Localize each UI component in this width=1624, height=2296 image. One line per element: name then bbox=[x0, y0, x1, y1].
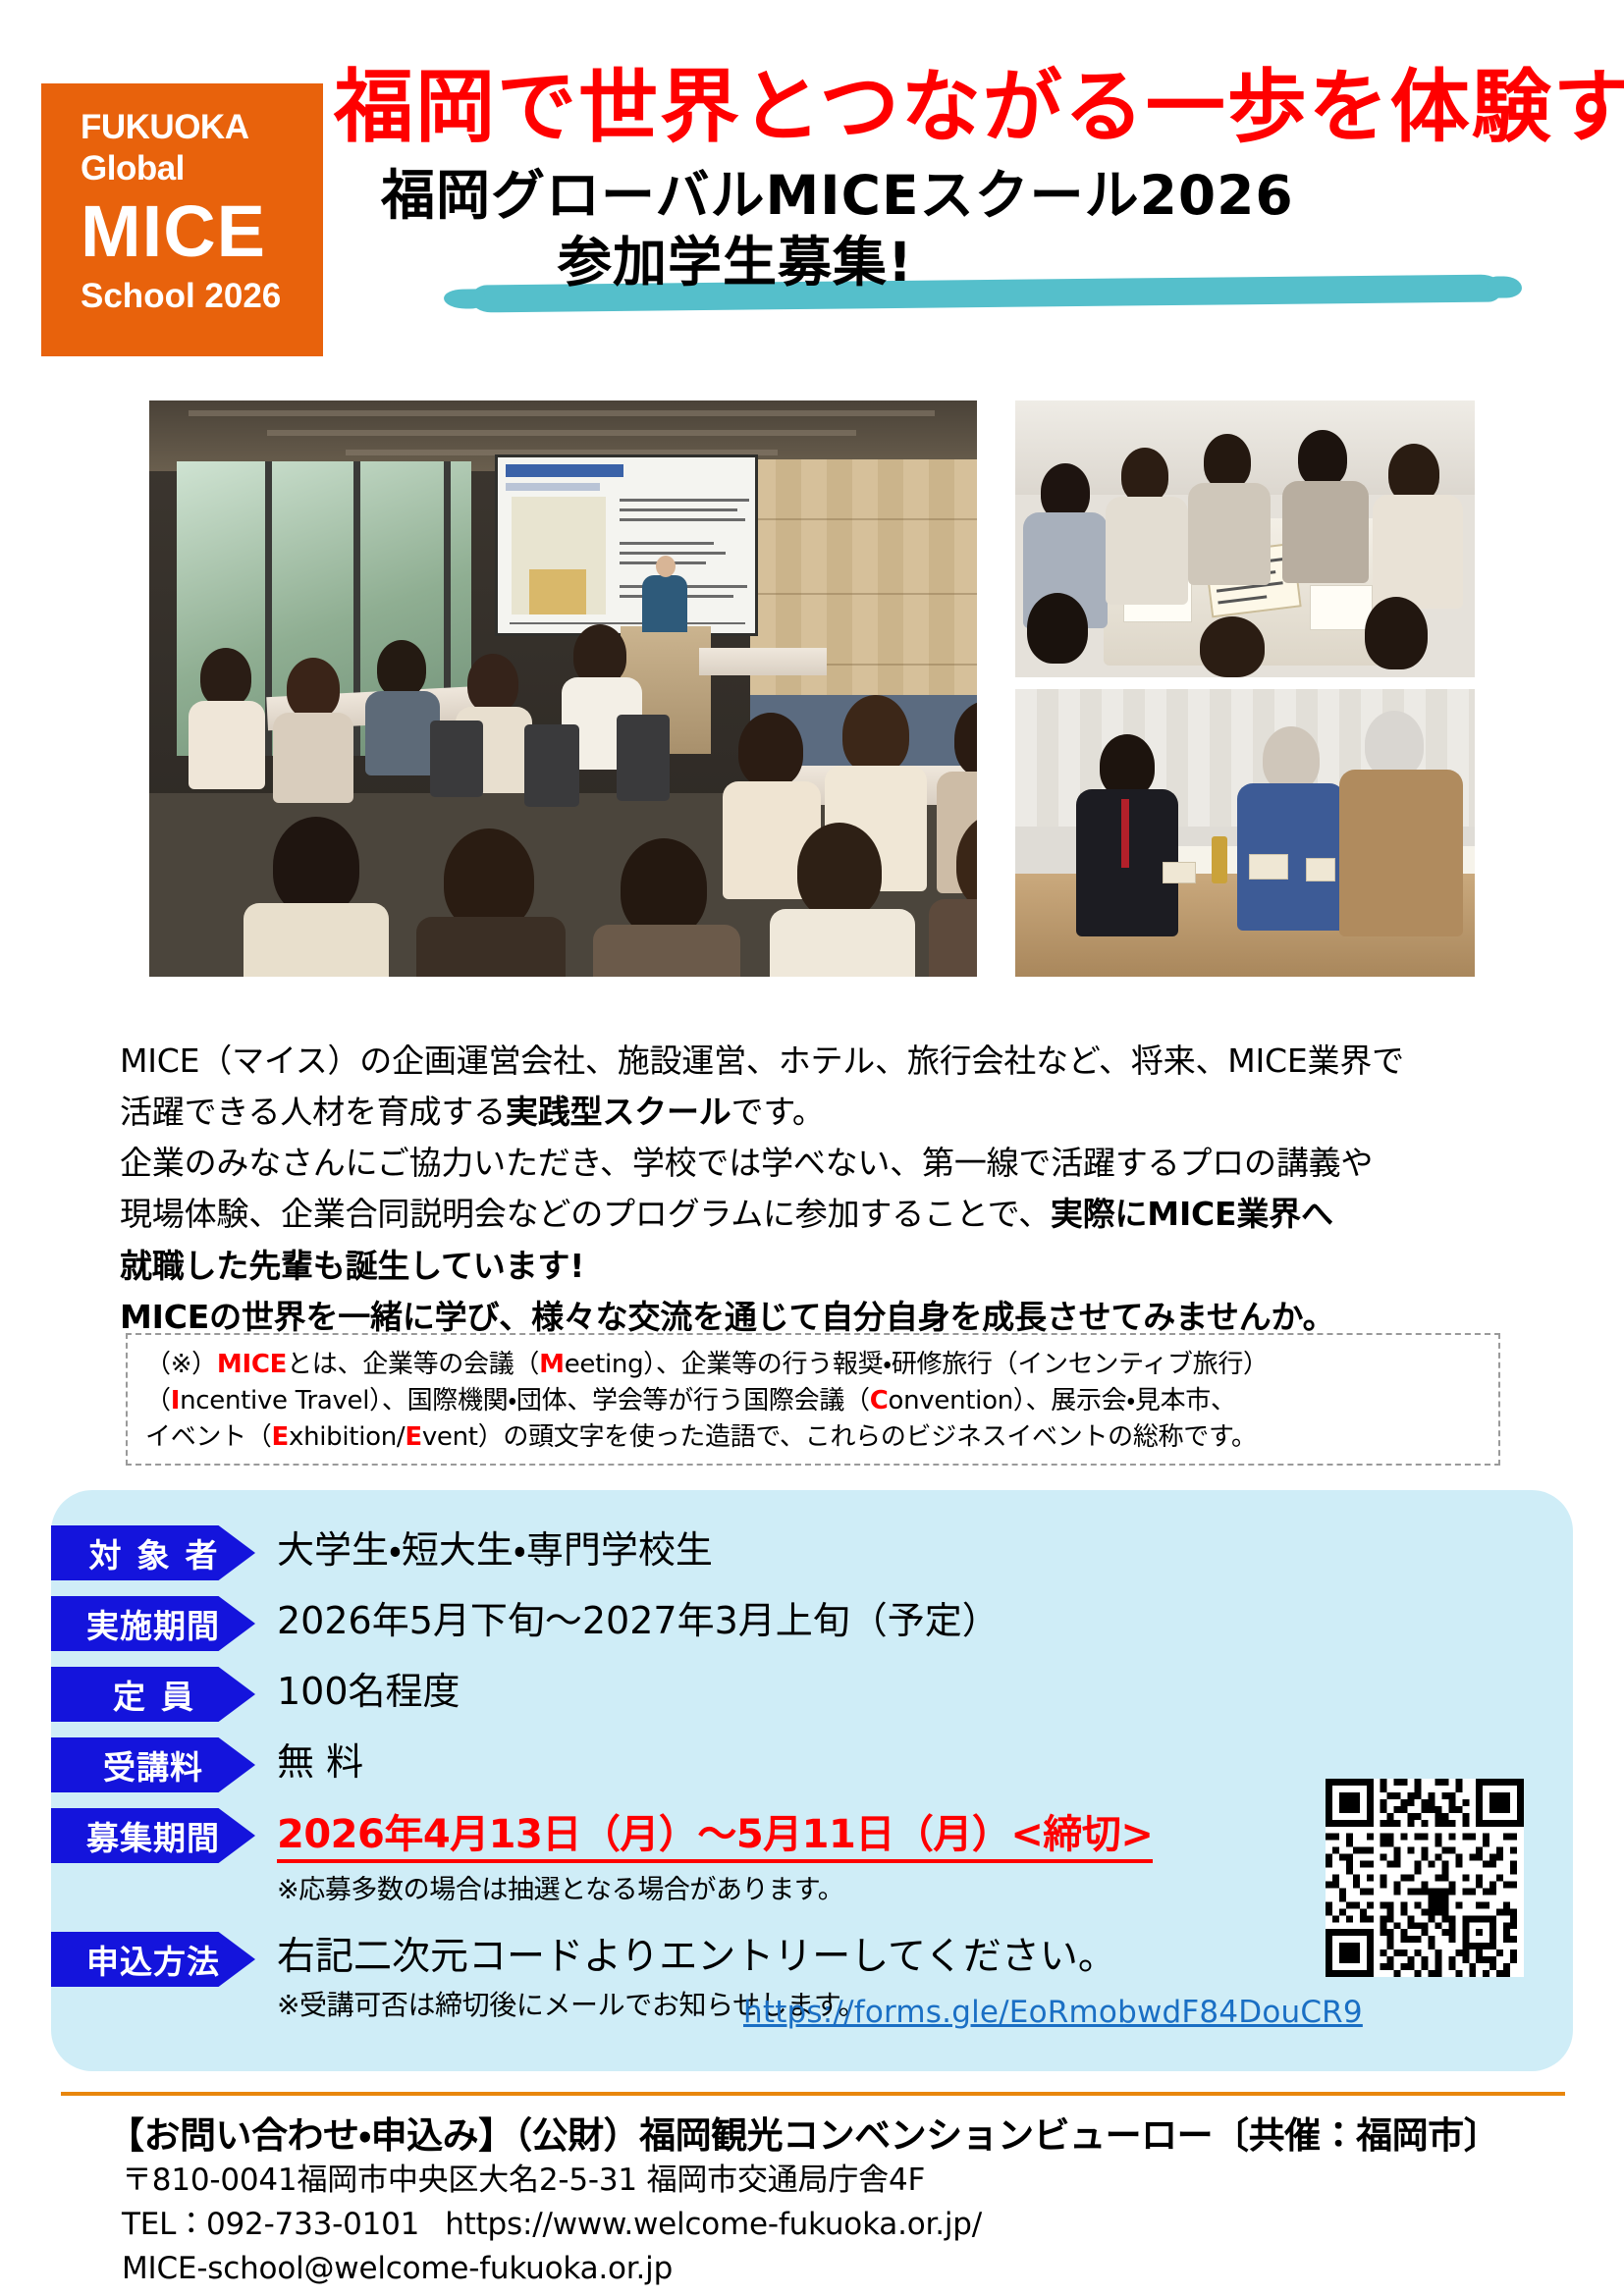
application-deadline-highlight: 2026年4月13日（月）〜5月11日（月）<締切> bbox=[277, 1812, 1153, 1863]
desc-line-5-emph: 就職した先輩も誕生しています! bbox=[120, 1247, 584, 1285]
footer-email[interactable]: MICE-school@welcome-fukuoka.or.jp bbox=[108, 2247, 1561, 2291]
detail-row-target: 対象者 大学生・短大生・専門学校生 bbox=[51, 1525, 1573, 1580]
desc-line-5: 就職した先輩も誕生しています! bbox=[120, 1241, 1514, 1292]
desc-line-2a: 活躍できる人材を育成する bbox=[120, 1093, 506, 1131]
mice-def-line-2: （Incentive Travel）、国際機関・団体、学会等が行う国際会議（Co… bbox=[145, 1383, 1498, 1419]
detail-value-target: 大学生・短大生・専門学校生 bbox=[277, 1525, 713, 1573]
desc-line-4: 現場体験、企業合同説明会などのプログラムに参加することで、実際にMICE業界へ bbox=[120, 1189, 1514, 1240]
mice-def-1-mid: とは、企業等の会議（ bbox=[287, 1350, 539, 1379]
detail-label-period: 実施期間 bbox=[51, 1596, 255, 1651]
detail-row-period: 実施期間 2026年5月下旬〜2027年3月上旬（予定） bbox=[51, 1596, 1573, 1651]
mice-def-line-1: （※）MICEとは、企業等の会議（Meeting）、企業等の行う報奨・研修旅行（… bbox=[145, 1347, 1498, 1383]
mice-definition-box: （※）MICEとは、企業等の会議（Meeting）、企業等の行う報奨・研修旅行（… bbox=[126, 1333, 1500, 1466]
desc-line-2-emph: 実践型スクール bbox=[506, 1093, 731, 1131]
mice-def-initial-i: I bbox=[171, 1386, 180, 1415]
application-form-link[interactable]: https://forms.gle/EoRmobwdF84DouCR9 bbox=[743, 1995, 1363, 2030]
detail-label-fee: 受講料 bbox=[51, 1737, 255, 1792]
application-form-qr-code[interactable] bbox=[1326, 1779, 1524, 1977]
application-lottery-note: ※応募多数の場合は抽選となる場合があります。 bbox=[277, 1875, 1153, 1905]
desc-line-3: 企業のみなさんにご協力いただき、学校では学べない、第一線で活躍するプロの講義や bbox=[120, 1138, 1514, 1189]
mice-def-1-post: eeting）、企業等の行う報奨・研修旅行（インセンティブ旅行） bbox=[565, 1350, 1269, 1379]
detail-label-application-period: 募集期間 bbox=[51, 1808, 255, 1863]
desc-line-6-emph: MICEの世界を一緒に学び、様々な交流を通じて自分自身を成長させてみませんか。 bbox=[120, 1298, 1334, 1336]
logo-line-fukuoka-global: FUKUOKA Global bbox=[41, 107, 323, 189]
program-description: MICE（マイス）の企画運営会社、施設運営、ホテル、旅行会社など、将来、MICE… bbox=[120, 1036, 1514, 1343]
footer-organization: （公財）福岡観光コンベンションビューロー〔共催：福岡市〕 bbox=[514, 2114, 1500, 2157]
mice-def-initial-c: C bbox=[870, 1386, 889, 1415]
contact-footer: 【お問い合わせ・申込み】（公財）福岡観光コンベンションビューロー〔共催：福岡市〕… bbox=[108, 2112, 1561, 2291]
detail-value-period: 2026年5月下旬〜2027年3月上旬（予定） bbox=[277, 1596, 1000, 1643]
detail-label-how-to-apply: 申込方法 bbox=[51, 1932, 255, 1987]
footer-heading-label: 【お問い合わせ・申込み】 bbox=[108, 2114, 514, 2157]
mice-def-2-post: onvention）、展示会・見本市、 bbox=[889, 1386, 1236, 1415]
mice-def-1-pre: （※） bbox=[145, 1350, 217, 1379]
title-block: 福岡で世界とつながる一歩を体験する 福岡グローバルMICEスクール2026 参加… bbox=[334, 69, 1591, 294]
mice-def-3-post: vent）の頭文字を使った造語で、これらのビジネスイベントの総称です。 bbox=[422, 1422, 1257, 1452]
footer-divider bbox=[61, 2092, 1565, 2096]
page-title: 福岡で世界とつながる一歩を体験する bbox=[334, 69, 1591, 148]
desc-line-2: 活躍できる人材を育成する実践型スクールです。 bbox=[120, 1087, 1514, 1138]
photo-gallery bbox=[0, 393, 1624, 991]
mice-def-3-mid: xhibition/ bbox=[289, 1422, 405, 1452]
networking-booth-photo bbox=[1015, 689, 1475, 977]
subtitle-call-row: 参加学生募集! bbox=[334, 232, 1591, 294]
footer-tel-web: TEL：092-733-0101https://www.welcome-fuku… bbox=[108, 2203, 1561, 2247]
desc-line-2c: です。 bbox=[731, 1093, 825, 1131]
detail-value-capacity: 100名程度 bbox=[277, 1667, 460, 1714]
logo-line-mice: MICE bbox=[41, 189, 323, 273]
detail-row-capacity: 定員 100名程度 bbox=[51, 1667, 1573, 1722]
mice-def-line-3: イベント（Exhibition/Event）の頭文字を使った造語で、これらのビジ… bbox=[145, 1419, 1498, 1456]
mice-school-logo: FUKUOKA Global MICE School 2026 bbox=[41, 83, 323, 356]
desc-line-4a: 現場体験、企業合同説明会などのプログラムに参加することで、 bbox=[120, 1195, 1051, 1233]
desc-line-1: MICE（マイス）の企画運営会社、施設運営、ホテル、旅行会社など、将来、MICE… bbox=[120, 1036, 1514, 1087]
mice-def-3-pre: イベント（ bbox=[145, 1422, 272, 1452]
poster-header: FUKUOKA Global MICE School 2026 福岡で世界とつな… bbox=[0, 0, 1624, 393]
footer-heading: 【お問い合わせ・申込み】（公財）福岡観光コンベンションビューロー〔共催：福岡市〕 bbox=[108, 2112, 1561, 2159]
mice-def-initial-m: M bbox=[539, 1350, 565, 1379]
subtitle-program-name: 福岡グローバルMICEスクール2026 bbox=[334, 162, 1591, 230]
desc-line-4-emph: 実際にMICE業界へ bbox=[1051, 1195, 1333, 1233]
detail-label-target: 対象者 bbox=[51, 1525, 255, 1580]
subtitle-recruit: 参加学生募集! bbox=[381, 232, 1591, 294]
mice-def-2-mid: ncentive Travel）、国際機関・団体、学会等が行う国際会議（ bbox=[180, 1386, 870, 1415]
detail-value-application-period: 2026年4月13日（月）〜5月11日（月）<締切> ※応募多数の場合は抽選とな… bbox=[277, 1808, 1153, 1905]
mice-def-acronym: MICE bbox=[217, 1350, 287, 1379]
mice-def-2-pre: （ bbox=[145, 1386, 171, 1415]
workshop-group-photo bbox=[1015, 400, 1475, 677]
footer-tel: TEL：092-733-0101 bbox=[122, 2207, 419, 2242]
how-to-apply-text: 右記二次元コードよりエントリーしてください。 bbox=[277, 1935, 1116, 1979]
footer-address: 〒810-0041福岡市中央区大名2-5-31 福岡市交通局庁舎4F bbox=[108, 2159, 1561, 2203]
mice-def-initial-e2: E bbox=[405, 1422, 421, 1452]
detail-value-fee: 無 料 bbox=[277, 1737, 363, 1785]
footer-website[interactable]: https://www.welcome-fukuoka.or.jp/ bbox=[445, 2207, 982, 2242]
logo-line-school-2026: School 2026 bbox=[41, 273, 323, 319]
detail-label-capacity: 定員 bbox=[51, 1667, 255, 1722]
seminar-lecture-photo bbox=[149, 400, 977, 977]
mice-def-initial-e1: E bbox=[272, 1422, 289, 1452]
